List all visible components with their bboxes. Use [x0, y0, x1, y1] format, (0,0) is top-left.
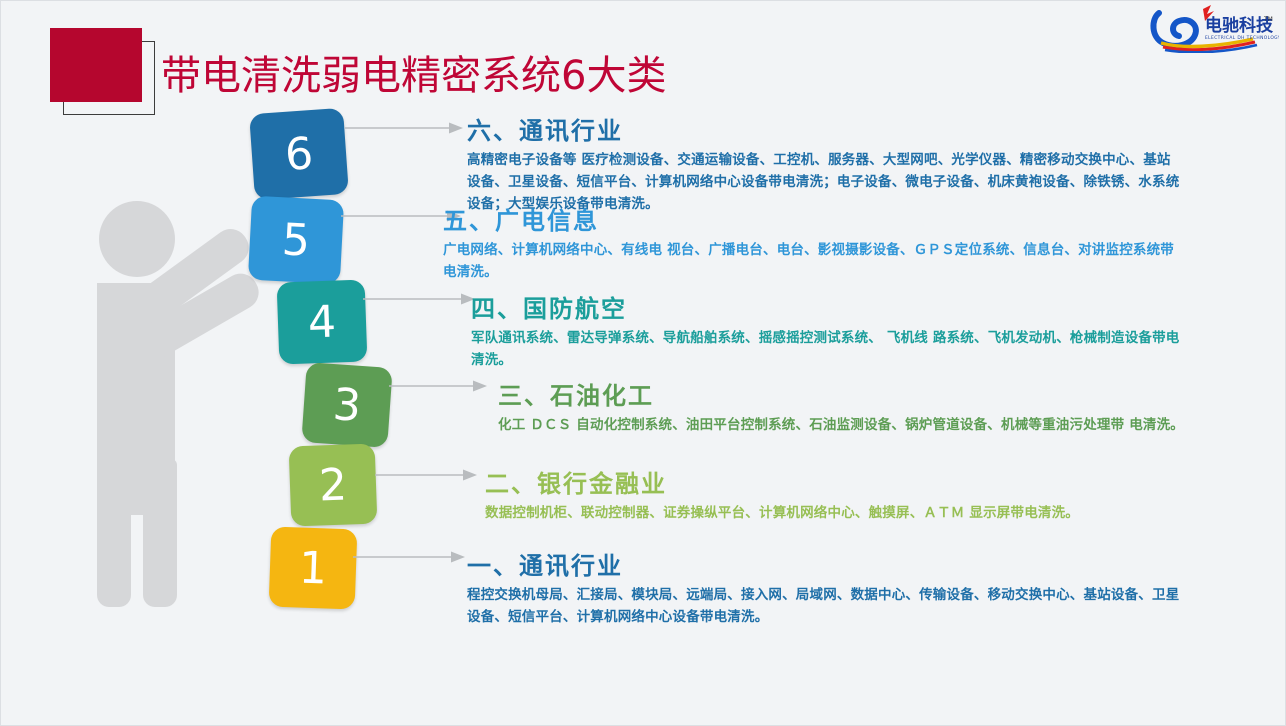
connector-arrow-6: [345, 121, 465, 135]
section-5: 五、广电信息 广电网络、计算机网络中心、有线电 视台、广播电台、电台、影视摄影设…: [443, 201, 1187, 284]
section-6-heading: 六、通讯行业: [467, 111, 1183, 146]
logo-tagline: ELECTRICAL DH TECHNOLOGY: [1205, 35, 1279, 41]
section-4: 四、国防航空 军队通讯系统、雷达导弹系统、导航船舶系统、摇感摇控测试系统、 飞机…: [471, 289, 1187, 372]
logo-svg: 电驰科技 ELECTRICAL DH TECHNOLOGY TM: [1147, 3, 1279, 53]
number-box-3[interactable]: 3: [301, 362, 392, 448]
section-2: 二、银行金融业 数据控制机柜、联动控制器、证券操纵平台、计算机网络中心、触摸屏、…: [485, 464, 1145, 525]
number-box-2-label: 2: [318, 459, 348, 511]
number-box-1-label: 1: [298, 542, 328, 594]
connector-arrow-4: [363, 292, 477, 306]
section-1-heading: 一、通讯行业: [467, 546, 1187, 581]
number-box-3-label: 3: [331, 379, 362, 432]
number-box-5-label: 5: [281, 214, 312, 266]
section-1: 一、通讯行业 程控交换机母局、汇接局、模块局、远端局、接入网、局域网、数据中心、…: [467, 546, 1187, 629]
section-3-body: 化工 ＤＣＳ 自动化控制系统、油田平台控制系统、石油监测设备、锅炉管道设备、机械…: [498, 415, 1188, 437]
company-logo: 电驰科技 ELECTRICAL DH TECHNOLOGY TM: [1147, 3, 1279, 53]
section-4-heading: 四、国防航空: [471, 289, 1187, 324]
section-2-body: 数据控制机柜、联动控制器、证券操纵平台、计算机网络中心、触摸屏、ＡＴＭ 显示屏带…: [485, 503, 1145, 525]
logo-trademark: TM: [1263, 16, 1273, 23]
number-box-4[interactable]: 4: [277, 279, 368, 364]
title-accent-square: [50, 28, 142, 102]
section-2-heading: 二、银行金融业: [485, 464, 1145, 499]
connector-arrow-3: [389, 379, 489, 393]
section-5-heading: 五、广电信息: [443, 201, 1187, 236]
number-box-4-label: 4: [307, 296, 337, 348]
page-title: 带电清洗弱电精密系统6大类: [161, 43, 666, 101]
section-6: 六、通讯行业 高精密电子设备等 医疗检测设备、交通运输设备、工控机、服务器、大型…: [467, 111, 1183, 216]
section-1-body: 程控交换机母局、汇接局、模块局、远端局、接入网、局域网、数据中心、传输设备、移动…: [467, 585, 1187, 629]
connector-arrow-1: [353, 550, 467, 564]
section-4-body: 军队通讯系统、雷达导弹系统、导航船舶系统、摇感摇控测试系统、 飞机线 路系统、飞…: [471, 328, 1187, 372]
number-box-6[interactable]: 6: [249, 108, 349, 200]
number-box-1[interactable]: 1: [269, 527, 358, 610]
slide-canvas: 电驰科技 ELECTRICAL DH TECHNOLOGY TM 带电清洗弱电精…: [0, 0, 1286, 726]
section-3-heading: 三、石油化工: [498, 376, 1188, 411]
number-box-5[interactable]: 5: [248, 196, 344, 285]
number-box-6-label: 6: [283, 128, 314, 181]
section-5-body: 广电网络、计算机网络中心、有线电 视台、广播电台、电台、影视摄影设备、ＧＰＳ定位…: [443, 240, 1187, 284]
section-3: 三、石油化工 化工 ＤＣＳ 自动化控制系统、油田平台控制系统、石油监测设备、锅炉…: [498, 376, 1188, 437]
number-box-2[interactable]: 2: [289, 444, 378, 527]
connector-arrow-2: [375, 468, 479, 482]
